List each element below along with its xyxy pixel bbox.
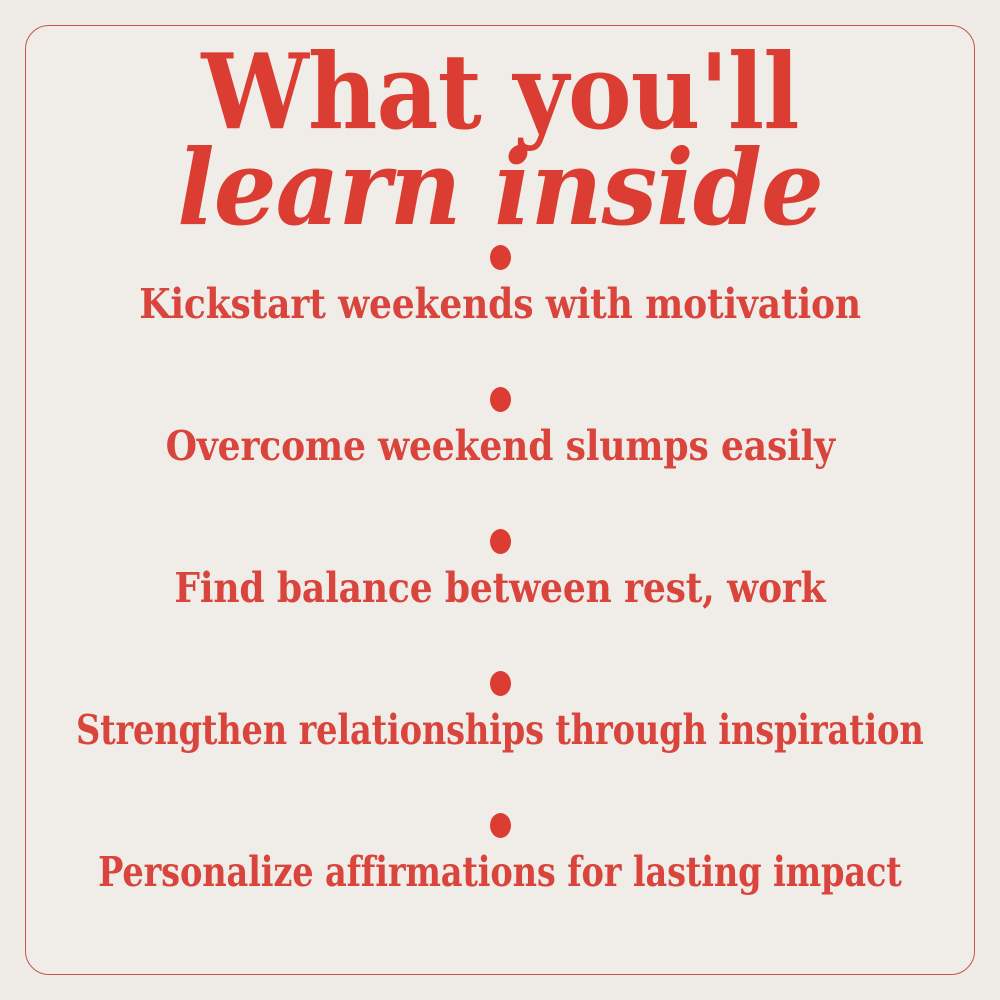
bullet-dot-icon [490,813,511,838]
poster-canvas: What you'll learn inside Kickstart weeke… [0,0,1000,1000]
list-item-label: Overcome weekend slumps easily [165,425,834,468]
list-item: Kickstart weekends with motivation [25,245,975,387]
bullet-dot-icon [490,671,511,696]
list-item: Strengthen relationships through inspira… [25,671,975,813]
list-item-label: Personalize affirmations for lasting imp… [98,851,901,894]
list-item-label: Find balance between rest, work [174,567,825,610]
bullet-dot-icon [490,387,511,412]
poster-content: What you'll learn inside Kickstart weeke… [25,25,975,975]
bullet-dot-icon [490,529,511,554]
page-title: What you'll learn inside [25,41,975,239]
headline-line-2: learn inside [49,137,952,239]
list-item-label: Strengthen relationships through inspira… [76,709,924,752]
list-item: Find balance between rest, work [25,529,975,671]
list-item: Personalize affirmations for lasting imp… [25,813,975,955]
bullet-dot-icon [490,245,511,270]
list-item: Overcome weekend slumps easily [25,387,975,529]
benefits-list: Kickstart weekends with motivation Overc… [25,245,975,955]
list-item-label: Kickstart weekends with motivation [139,283,861,326]
